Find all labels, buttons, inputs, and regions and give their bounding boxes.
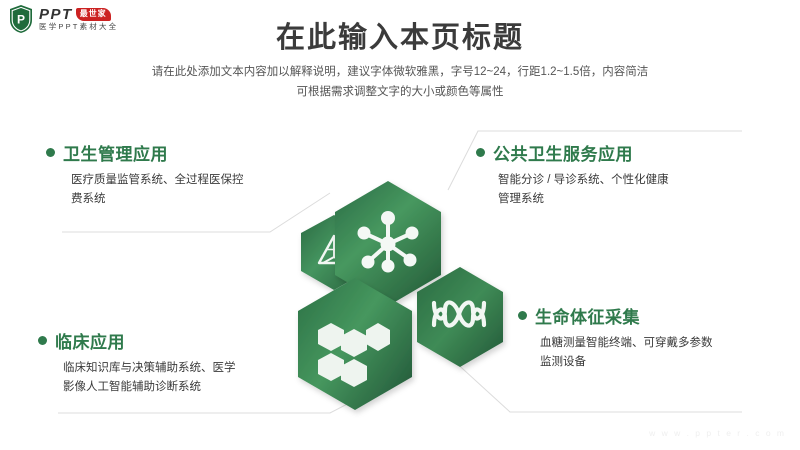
callout-body: 临床知识库与决策辅助系统、医学 影像人工智能辅助诊断系统 — [63, 359, 236, 397]
watermark: w w w . p p t e r . c o m — [649, 428, 786, 438]
bullet-dot-icon — [38, 336, 47, 345]
callout-body: 医疗质量监管系统、全过程医保控 费系统 — [71, 171, 244, 209]
callout-body: 血糖测量智能终端、可穿戴多参数 监测设备 — [540, 334, 713, 372]
hex-helix[interactable] — [417, 267, 503, 367]
bullet-dot-icon — [46, 148, 55, 157]
bullet-dot-icon — [518, 311, 527, 320]
callout-public-health-service[interactable]: 公共卫生服务应用 智能分诊 / 导诊系统、个性化健康 管理系统 — [476, 140, 669, 209]
callout-title: 临床应用 — [55, 328, 125, 353]
callout-body-line-1: 医疗质量监管系统、全过程医保控 — [71, 171, 244, 190]
callout-body: 智能分诊 / 导诊系统、个性化健康 管理系统 — [498, 171, 669, 209]
callout-header: 临床应用 — [38, 328, 236, 353]
callout-title: 卫生管理应用 — [63, 140, 168, 165]
bullet-dot-icon — [476, 148, 485, 157]
callout-clinical-application[interactable]: 临床应用 临床知识库与决策辅助系统、医学 影像人工智能辅助诊断系统 — [38, 328, 236, 397]
callout-vital-signs-collection[interactable]: 生命体征采集 血糖测量智能终端、可穿戴多参数 监测设备 — [518, 303, 713, 372]
callout-header: 公共卫生服务应用 — [476, 140, 669, 165]
callout-title: 生命体征采集 — [535, 303, 640, 328]
callout-header: 卫生管理应用 — [46, 140, 244, 165]
callout-body-line-2: 监测设备 — [540, 353, 713, 372]
callout-header: 生命体征采集 — [518, 303, 713, 328]
callout-body-line-2: 费系统 — [71, 190, 244, 209]
callout-title: 公共卫生服务应用 — [493, 140, 633, 165]
callout-health-management[interactable]: 卫生管理应用 医疗质量监管系统、全过程医保控 费系统 — [46, 140, 244, 209]
callout-body-line-1: 临床知识库与决策辅助系统、医学 — [63, 359, 236, 378]
callout-body-line-2: 影像人工智能辅助诊断系统 — [63, 378, 236, 397]
callout-body-line-1: 血糖测量智能终端、可穿戴多参数 — [540, 334, 713, 353]
callout-body-line-1: 智能分诊 / 导诊系统、个性化健康 — [498, 171, 669, 190]
callout-body-line-2: 管理系统 — [498, 190, 669, 209]
